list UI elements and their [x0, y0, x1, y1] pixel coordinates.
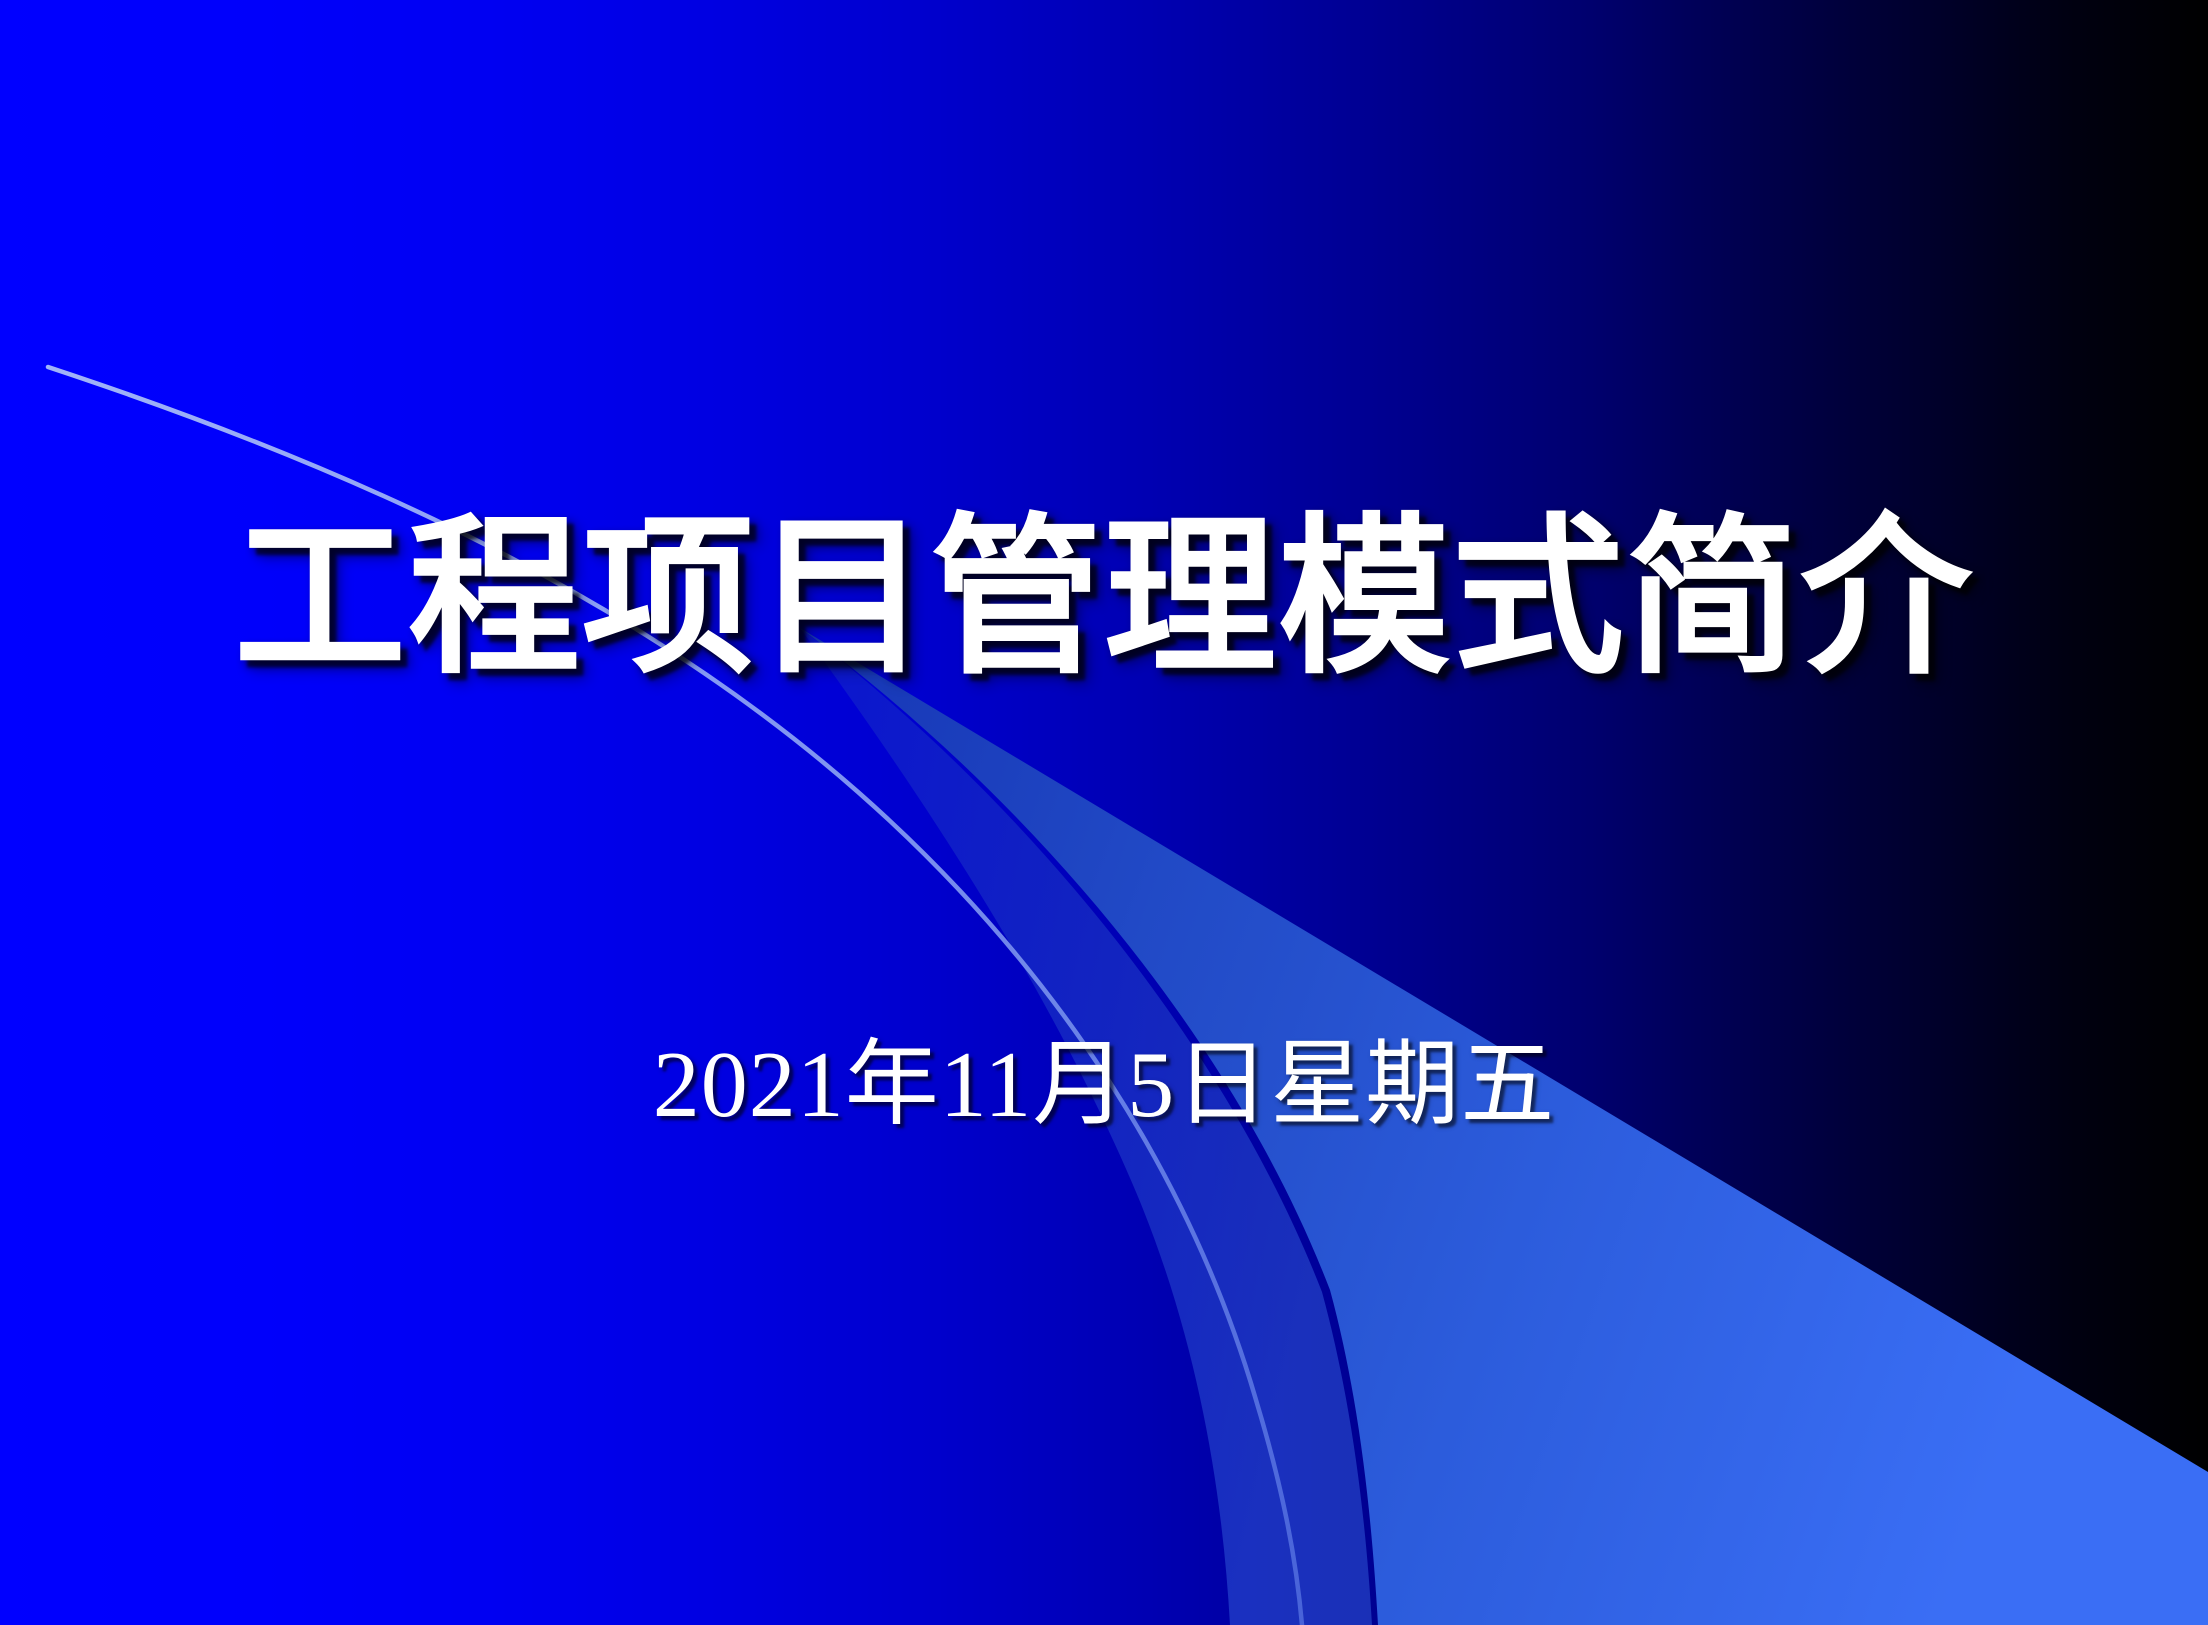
- slide-subtitle-date: 2021年11月5日星期五: [0, 1034, 2208, 1137]
- slide-text-layer: 工程项目管理模式简介 2021年11月5日星期五: [0, 0, 2208, 1625]
- presentation-slide: 工程项目管理模式简介 2021年11月5日星期五: [0, 0, 2208, 1625]
- slide-title: 工程项目管理模式简介: [0, 508, 2208, 689]
